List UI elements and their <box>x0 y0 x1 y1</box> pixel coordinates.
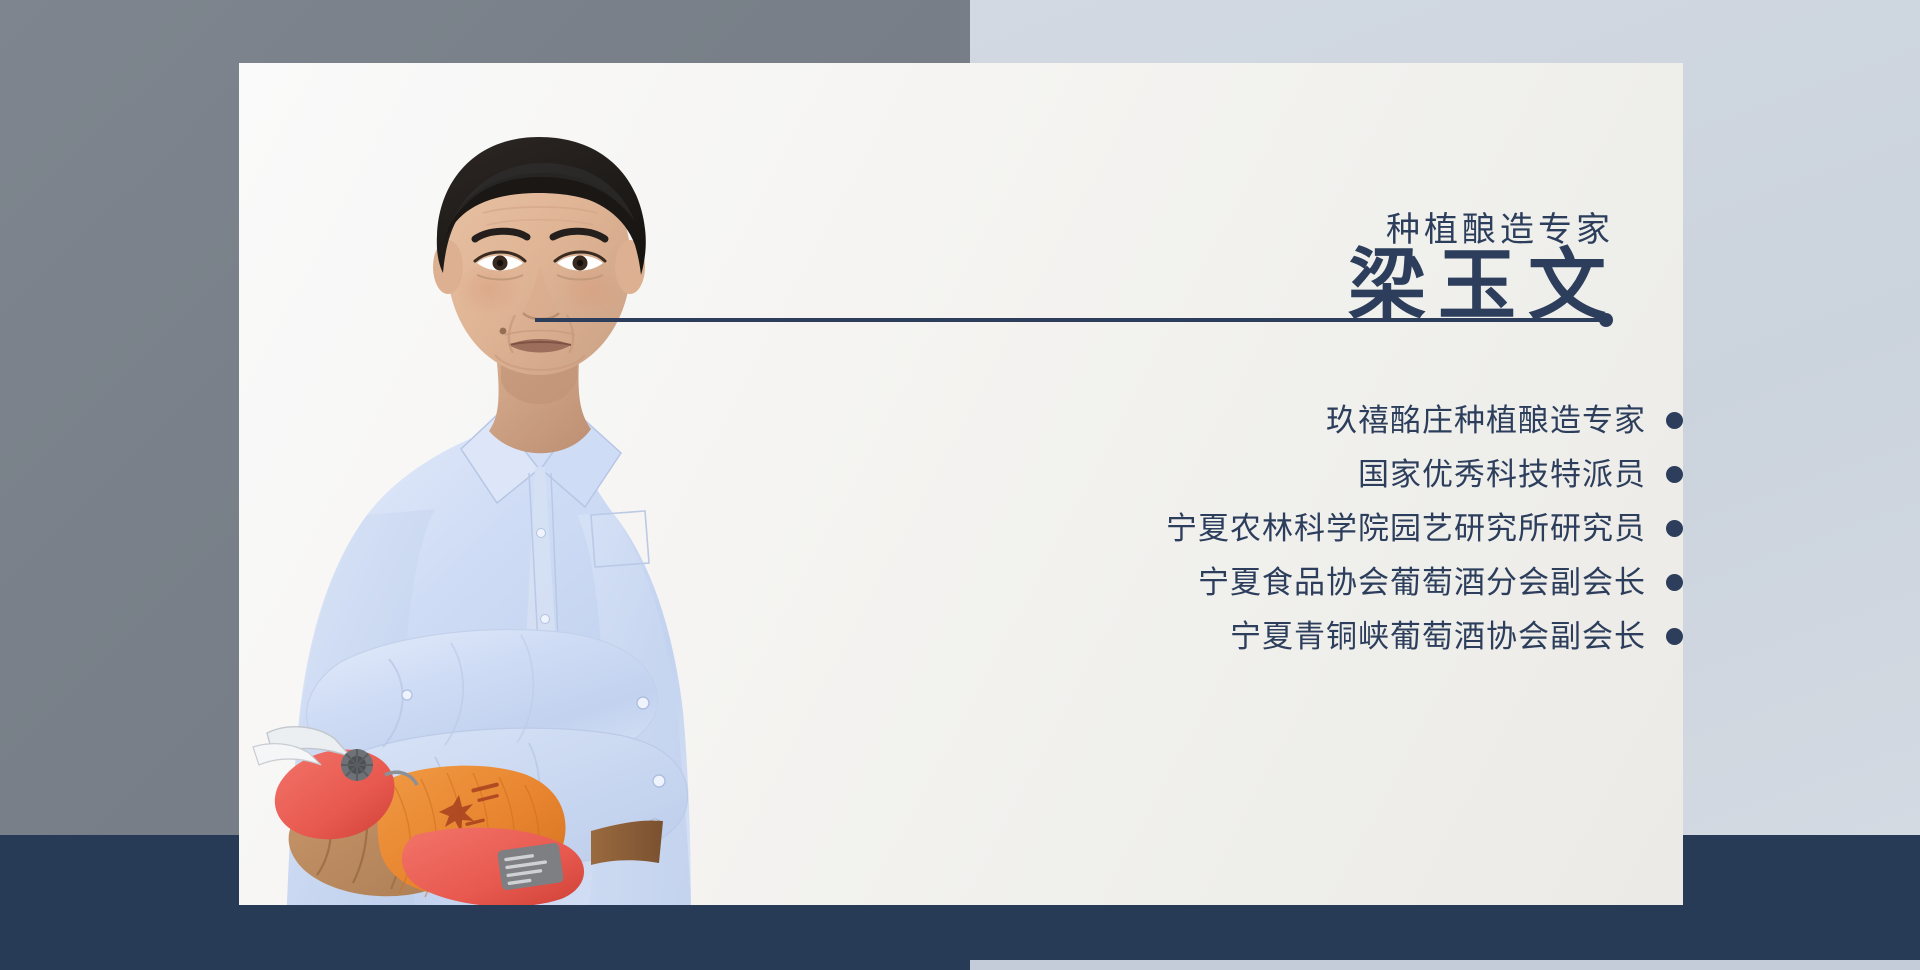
credential-label: 宁夏青铜峡葡萄酒协会副会长 <box>1230 621 1646 652</box>
dot-bullet-icon <box>1666 466 1683 483</box>
dot-bullet-icon <box>1666 574 1683 591</box>
credential-label: 玖禧酩庄种植酿造专家 <box>1326 405 1646 436</box>
credential-item: 国家优秀科技特派员 <box>1358 447 1683 501</box>
credential-label: 国家优秀科技特派员 <box>1358 459 1646 490</box>
dot-bullet-icon <box>1666 412 1683 429</box>
divider-line <box>535 318 1600 322</box>
dot-bullet-icon <box>1666 520 1683 537</box>
credential-item: 宁夏食品协会葡萄酒分会副会长 <box>1198 555 1683 609</box>
credential-label: 宁夏农林科学院园艺研究所研究员 <box>1166 513 1646 544</box>
background-strip-bottom-right <box>970 960 1920 970</box>
credential-label: 宁夏食品协会葡萄酒分会副会长 <box>1198 567 1646 598</box>
credential-list: 玖禧酩庄种植酿造专家国家优秀科技特派员宁夏农林科学院园艺研究所研究员宁夏食品协会… <box>903 393 1683 663</box>
horizontal-rule-with-end-dot <box>535 313 1613 327</box>
credential-item: 宁夏青铜峡葡萄酒协会副会长 <box>1230 609 1683 663</box>
divider-end-dot-icon <box>1599 313 1613 327</box>
dot-bullet-icon <box>1666 628 1683 645</box>
profile-card: 种植酿造专家 梁玉文 玖禧酩庄种植酿造专家国家优秀科技特派员宁夏农林科学院园艺研… <box>239 63 1683 905</box>
poster-stage: 种植酿造专家 梁玉文 玖禧酩庄种植酿造专家国家优秀科技特派员宁夏农林科学院园艺研… <box>0 0 1920 970</box>
credential-item: 玖禧酩庄种植酿造专家 <box>1326 393 1683 447</box>
portrait-photo <box>239 63 859 905</box>
credential-item: 宁夏农林科学院园艺研究所研究员 <box>1166 501 1683 555</box>
